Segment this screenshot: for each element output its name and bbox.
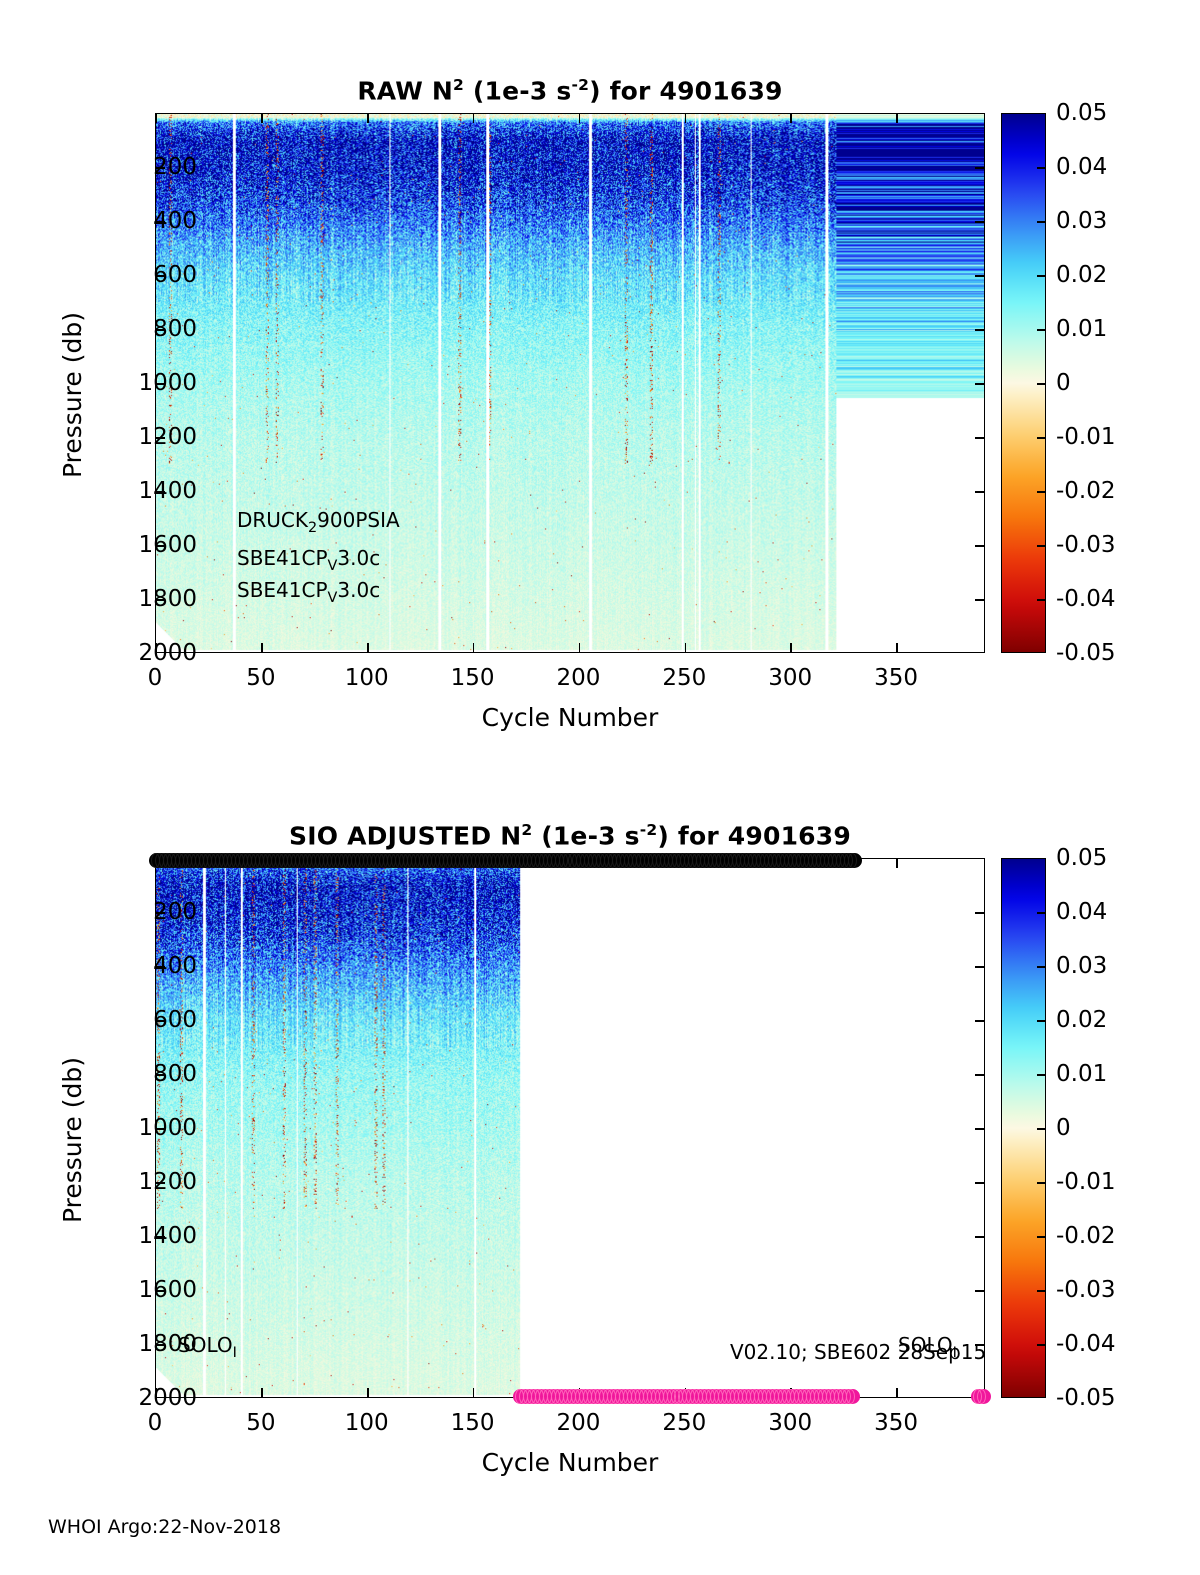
x-tick-label-100: 100 <box>345 1410 389 1436</box>
x-tick-label-50: 50 <box>246 665 275 691</box>
colorbar-tick-mark <box>1037 966 1045 967</box>
note-text: SBE41CP <box>237 578 328 602</box>
note-text: DRUCK <box>237 508 308 532</box>
y-tick-mark <box>975 1128 984 1130</box>
colorbar-label--0.05: -0.05 <box>1056 640 1116 666</box>
y-tick-mark <box>975 329 984 331</box>
x-tick-label-200: 200 <box>557 1410 601 1436</box>
colorbar-label-0.01: 0.01 <box>1056 1061 1107 1087</box>
marker-dot <box>977 1389 986 1404</box>
colorbar-tick-mark <box>1037 221 1045 222</box>
colorbar-label-0.02: 0.02 <box>1056 262 1107 288</box>
sensor-note-sbe41cp-2: SBE41CPV3.0c <box>237 578 380 606</box>
y-tick-mark <box>975 221 984 223</box>
colorbar-label--0.02: -0.02 <box>1056 1223 1116 1249</box>
x-tick-label-0: 0 <box>148 1410 163 1436</box>
x-tick-mark <box>579 114 581 123</box>
colorbar-tick-mark <box>1037 383 1045 384</box>
x-tick-label-0: 0 <box>148 665 163 691</box>
y-tick-mark <box>975 491 984 493</box>
x-tick-label-300: 300 <box>768 1410 812 1436</box>
colorbar-label-0.03: 0.03 <box>1056 953 1107 979</box>
x-tick-mark <box>367 114 369 123</box>
y-tick-label-1000: 1000 <box>138 370 197 396</box>
marker-dot <box>848 853 857 868</box>
y-tick-mark <box>975 1236 984 1238</box>
note-text-post: 3.0c <box>337 578 380 602</box>
colorbar-label-0.04: 0.04 <box>1056 154 1107 180</box>
colorbar-adjusted <box>1001 858 1046 1398</box>
panel-raw-title-exponent: 2 <box>453 76 464 94</box>
x-tick-mark <box>896 114 898 123</box>
colorbar-label--0.01: -0.01 <box>1056 1169 1116 1195</box>
colorbar-label--0.03: -0.03 <box>1056 532 1116 558</box>
colorbar-tick-mark <box>1037 599 1045 600</box>
panel-raw-title-exponent2: -2 <box>571 76 589 94</box>
y-tick-label-200: 200 <box>153 899 197 925</box>
colorbar-tick-mark <box>1037 1344 1045 1345</box>
x-tick-mark <box>367 1388 369 1397</box>
x-tick-mark <box>896 643 898 652</box>
y-tick-label-2000: 2000 <box>138 1385 197 1411</box>
note-subscript: I <box>953 1345 957 1361</box>
sensor-note-sbe41cp-1: SBE41CPV3.0c <box>237 546 380 574</box>
note-text-post: 900PSIA <box>317 508 400 532</box>
x-tick-mark <box>155 114 157 123</box>
y-tick-mark <box>975 437 984 439</box>
note-subscript: V <box>328 558 338 574</box>
y-tick-mark <box>975 599 984 601</box>
colorbar-label--0.04: -0.04 <box>1056 586 1116 612</box>
y-tick-label-800: 800 <box>153 316 197 342</box>
colorbar-label-0.02: 0.02 <box>1056 1007 1107 1033</box>
y-tick-mark <box>975 1020 984 1022</box>
colorbar-label--0.02: -0.02 <box>1056 478 1116 504</box>
y-tick-label-2000: 2000 <box>138 640 197 666</box>
colorbar-label-0.04: 0.04 <box>1056 899 1107 925</box>
panel-adjusted-title-exponent: 2 <box>521 821 532 839</box>
y-tick-label-1600: 1600 <box>138 532 197 558</box>
y-tick-label-400: 400 <box>153 208 197 234</box>
platform-note-solo-right: SOLOI <box>898 1333 957 1361</box>
x-tick-mark <box>790 114 792 123</box>
colorbar-tick-mark <box>1037 1290 1045 1291</box>
note-text: SBE41CP <box>237 546 328 570</box>
colorbar-label-0.01: 0.01 <box>1056 316 1107 342</box>
colorbar-tick-mark <box>1037 167 1045 168</box>
y-tick-label-1800: 1800 <box>138 586 197 612</box>
x-tick-mark <box>790 643 792 652</box>
y-tick-label-1200: 1200 <box>138 1169 197 1195</box>
y-axis-title: Pressure (db) <box>58 312 87 478</box>
panel-raw-title-prefix: RAW N <box>357 76 453 105</box>
note-subscript: I <box>233 1345 237 1361</box>
colorbar-tick-mark <box>1037 1074 1045 1075</box>
colorbar-label--0.01: -0.01 <box>1056 424 1116 450</box>
colorbar-tick-mark <box>1037 1236 1045 1237</box>
colorbar-tick-mark <box>1037 275 1045 276</box>
colorbar-tick-mark <box>1037 329 1045 330</box>
x-tick-mark <box>261 643 263 652</box>
panel-adjusted: SIO ADJUSTED N2 (1e-3 s-2) for 4901639 2… <box>0 745 1200 1485</box>
panel-adjusted-title: SIO ADJUSTED N2 (1e-3 s-2) for 4901639 <box>155 821 985 850</box>
colorbar-label--0.04: -0.04 <box>1056 1331 1116 1357</box>
y-tick-mark <box>975 966 984 968</box>
colorbar-tick-mark <box>1037 1182 1045 1183</box>
platform-note-solo-left: SOLOI <box>178 1333 237 1361</box>
heatmap-adjusted <box>156 859 984 1397</box>
note-text-post: 3.0c <box>337 546 380 570</box>
panel-raw: RAW N2 (1e-3 s-2) for 4901639 2004006008… <box>0 0 1200 760</box>
plot-area-adjusted <box>155 858 985 1398</box>
colorbar-tick-mark <box>1037 912 1045 913</box>
y-tick-label-600: 600 <box>153 262 197 288</box>
y-tick-label-200: 200 <box>153 154 197 180</box>
x-tick-label-100: 100 <box>345 665 389 691</box>
note-text: SOLO <box>898 1333 953 1357</box>
y-tick-label-1600: 1600 <box>138 1277 197 1303</box>
x-tick-mark <box>261 114 263 123</box>
x-tick-label-250: 250 <box>662 665 706 691</box>
x-tick-mark <box>896 1388 898 1397</box>
x-tick-label-250: 250 <box>662 1410 706 1436</box>
colorbar-tick-mark <box>1037 1128 1045 1129</box>
footer-credit: WHOI Argo:22-Nov-2018 <box>48 1516 281 1538</box>
x-tick-label-150: 150 <box>451 665 495 691</box>
panel-raw-title-mid: (1e-3 s <box>464 76 571 105</box>
x-tick-mark <box>579 643 581 652</box>
note-subscript: 2 <box>308 520 317 536</box>
panel-raw-title-suffix: ) for 4901639 <box>589 76 783 105</box>
y-tick-mark <box>975 1074 984 1076</box>
panel-adjusted-title-exponent2: -2 <box>640 821 658 839</box>
x-tick-mark <box>473 1388 475 1397</box>
x-axis-title: Cycle Number <box>155 1448 985 1477</box>
x-tick-label-150: 150 <box>451 1410 495 1436</box>
x-tick-label-200: 200 <box>557 665 601 691</box>
y-tick-mark <box>975 167 984 169</box>
x-tick-label-50: 50 <box>246 1410 275 1436</box>
colorbar-raw <box>1001 113 1046 653</box>
y-tick-label-1400: 1400 <box>138 478 197 504</box>
x-tick-mark <box>896 859 898 868</box>
y-tick-mark <box>975 1182 984 1184</box>
x-tick-mark <box>685 114 687 123</box>
colorbar-label-0: 0 <box>1056 1115 1071 1141</box>
y-tick-mark <box>975 912 984 914</box>
x-axis-title: Cycle Number <box>155 703 985 732</box>
y-tick-mark <box>975 545 984 547</box>
colorbar-tick-mark <box>1037 437 1045 438</box>
panel-adjusted-title-prefix: SIO ADJUSTED N <box>289 821 521 850</box>
sensor-note-druck: DRUCK2900PSIA <box>237 508 400 536</box>
x-tick-mark <box>473 114 475 123</box>
x-tick-mark <box>261 1388 263 1397</box>
panel-adjusted-title-mid: (1e-3 s <box>532 821 639 850</box>
panel-raw-title: RAW N2 (1e-3 s-2) for 4901639 <box>155 76 985 105</box>
y-tick-label-1200: 1200 <box>138 424 197 450</box>
y-tick-label-800: 800 <box>153 1061 197 1087</box>
y-axis-title: Pressure (db) <box>58 1057 87 1223</box>
colorbar-tick-mark <box>1037 491 1045 492</box>
y-tick-label-400: 400 <box>153 953 197 979</box>
y-tick-mark <box>975 383 984 385</box>
note-subscript: V <box>328 590 338 606</box>
marker-dot <box>846 1389 855 1404</box>
x-tick-label-350: 350 <box>874 665 918 691</box>
y-tick-label-600: 600 <box>153 1007 197 1033</box>
x-tick-mark <box>367 643 369 652</box>
y-tick-mark <box>975 275 984 277</box>
colorbar-label--0.03: -0.03 <box>1056 1277 1116 1303</box>
colorbar-tick-mark <box>1037 545 1045 546</box>
note-text: SOLO <box>178 1333 233 1357</box>
colorbar-label--0.05: -0.05 <box>1056 1385 1116 1411</box>
colorbar-label-0.05: 0.05 <box>1056 100 1107 126</box>
x-tick-label-350: 350 <box>874 1410 918 1436</box>
colorbar-label-0.05: 0.05 <box>1056 845 1107 871</box>
x-tick-label-300: 300 <box>768 665 812 691</box>
x-tick-mark <box>473 643 475 652</box>
x-tick-mark <box>685 643 687 652</box>
panel-adjusted-title-suffix: ) for 4901639 <box>657 821 851 850</box>
colorbar-tick-mark <box>1037 1020 1045 1021</box>
colorbar-label-0.03: 0.03 <box>1056 208 1107 234</box>
y-tick-label-1400: 1400 <box>138 1223 197 1249</box>
colorbar-label-0: 0 <box>1056 370 1071 396</box>
y-tick-mark <box>975 1290 984 1292</box>
y-tick-label-1000: 1000 <box>138 1115 197 1141</box>
